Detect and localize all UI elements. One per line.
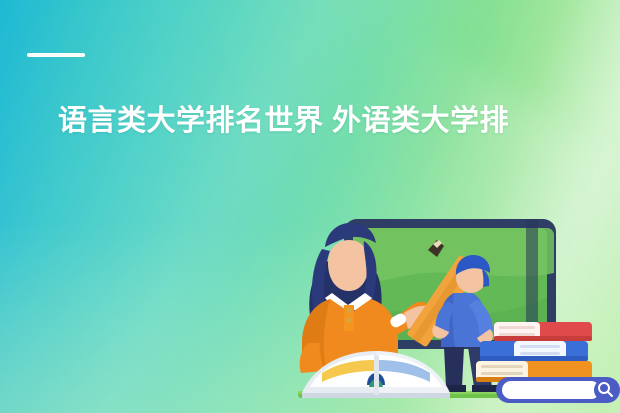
page-title: 语言类大学排名世界 外语类大学排 [58,103,620,139]
accent-rule [27,53,85,57]
hero-illustration [268,205,620,413]
search-input[interactable] [502,381,600,399]
search-bar[interactable] [496,377,620,403]
article-cover-banner: 语言类大学排名世界 外语类大学排 [0,0,620,413]
